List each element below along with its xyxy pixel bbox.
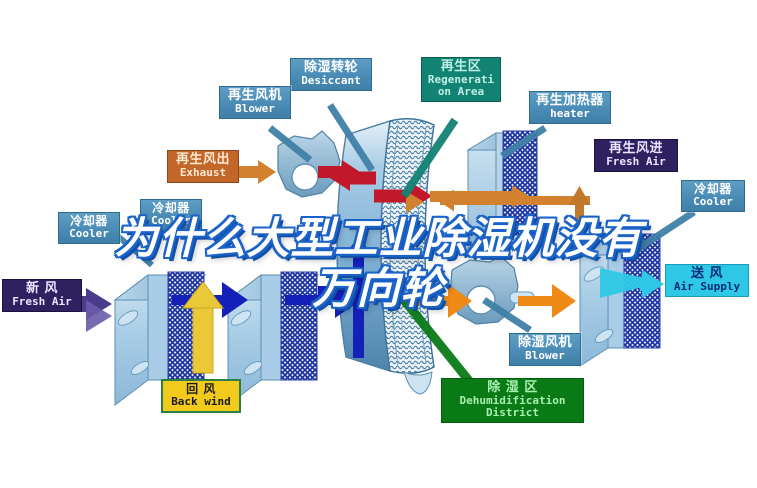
label-fresh-air-cn: 新 风 — [8, 282, 76, 296]
label-cooler-right-en: Cooler — [687, 196, 739, 208]
label-exhaust-en: Exhaust — [173, 167, 233, 179]
label-regen-fresh-air-en: Fresh Air — [600, 156, 672, 168]
label-dehum-blower-en: Blower — [515, 350, 575, 362]
label-cooler-left-2: 冷却器 Cooler — [140, 199, 202, 231]
label-cooler-left-2-en: Cooler — [146, 215, 196, 227]
label-regeneration-area: 再生区 Regenerati on Area — [421, 57, 501, 102]
desiccant-rotor: x1 — [337, 119, 434, 394]
label-back-wind: 回 风 Back wind — [161, 379, 241, 413]
label-regeneration-heater: 再生加热器 heater — [529, 91, 611, 124]
label-cooler-right-cn: 冷却器 — [687, 183, 739, 196]
label-regeneration-blower: 再生风机 Blower — [219, 86, 291, 119]
label-dehum-blower-cn: 除湿风机 — [515, 336, 575, 350]
label-regeneration-blower-cn: 再生风机 — [225, 89, 285, 103]
label-back-wind-en: Back wind — [168, 396, 234, 408]
label-regeneration-heater-cn: 再生加热器 — [535, 94, 605, 108]
label-back-wind-cn: 回 风 — [168, 383, 234, 396]
label-desiccant-rotor-cn: 除湿转轮 — [296, 61, 366, 75]
label-cooler-left-2-cn: 冷却器 — [146, 202, 196, 215]
dehumidifier-diagram-image: x1 — [0, 0, 757, 488]
label-fresh-air-en: Fresh Air — [8, 296, 76, 308]
label-cooler-left-1-cn: 冷却器 — [64, 215, 114, 228]
label-air-supply: 送 风 Air Supply — [665, 264, 749, 297]
watermark-text: x1 — [390, 319, 406, 334]
label-regeneration-heater-en: heater — [535, 108, 605, 120]
label-regeneration-area-en-2: on Area — [427, 86, 495, 98]
label-cooler-left-1: 冷却器 Cooler — [58, 212, 120, 244]
label-regen-fresh-air-cn: 再生风进 — [600, 142, 672, 156]
label-air-supply-cn: 送 风 — [671, 267, 743, 281]
dehumidification-blower — [450, 256, 534, 324]
label-regeneration-area-cn: 再生区 — [427, 60, 495, 74]
label-air-supply-en: Air Supply — [671, 281, 743, 293]
label-dehumidification-blower: 除湿风机 Blower — [509, 333, 581, 366]
label-fresh-air-in: 新 风 Fresh Air — [2, 279, 82, 312]
label-exhaust-cn: 再生风出 — [173, 153, 233, 167]
label-regeneration-blower-en: Blower — [225, 103, 285, 115]
label-dehum-district-en-2: District — [447, 407, 578, 419]
cooler-coil-right — [580, 234, 660, 366]
cooler-coil-left-2 — [228, 272, 318, 405]
label-dehumidification-district: 除 湿 区 Dehumidification District — [441, 378, 584, 423]
label-cooler-right: 冷却器 Cooler — [681, 180, 745, 212]
label-regeneration-exhaust: 再生风出 Exhaust — [167, 150, 239, 183]
diagram-canvas: x1 — [0, 0, 757, 488]
label-regeneration-fresh-air-in: 再生风进 Fresh Air — [594, 139, 678, 172]
arrow-dry-air-2 — [518, 284, 576, 318]
label-desiccant-rotor-en: Desiccant — [296, 75, 366, 87]
label-desiccant-rotor: 除湿转轮 Desiccant — [290, 58, 372, 91]
label-cooler-left-1-en: Cooler — [64, 228, 114, 240]
label-dehum-district-cn: 除 湿 区 — [447, 381, 578, 395]
